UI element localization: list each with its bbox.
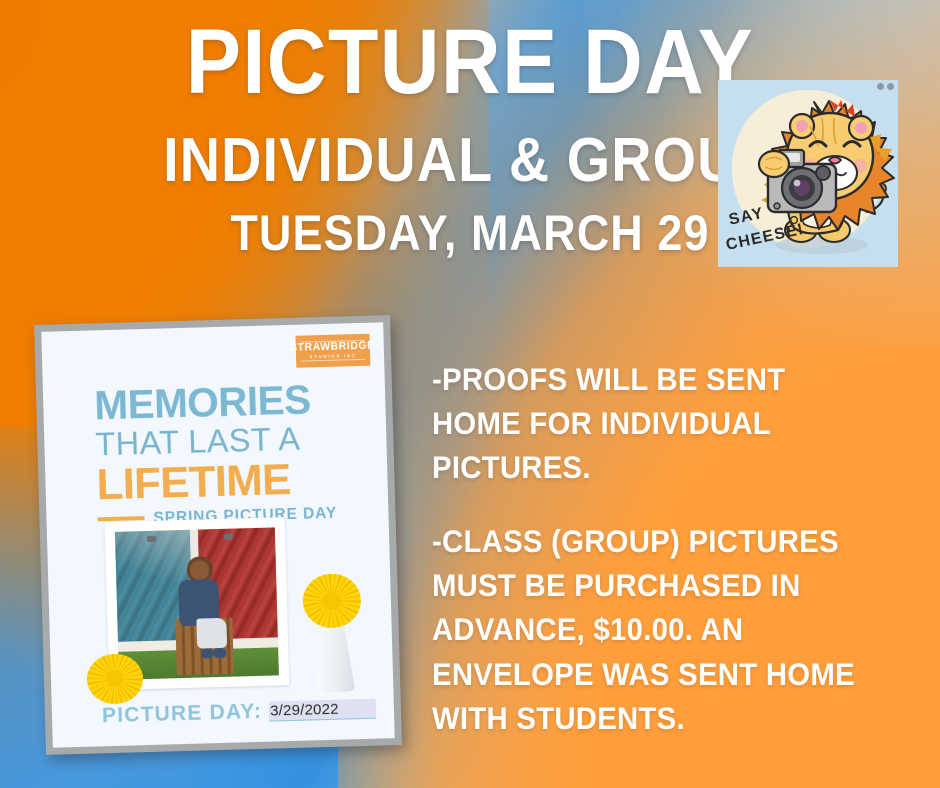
picture-day-flyer: PICTURE DAY INDIVIDUAL & GROUP TUESDAY, … xyxy=(0,0,940,788)
flyer-date-field: 3/29/2022 xyxy=(269,699,376,722)
flyer-footer-label: PICTURE DAY: xyxy=(102,701,263,726)
photo-knob-right xyxy=(224,534,233,540)
photo-knob-left xyxy=(147,536,156,542)
announcement-text-block: -PROOFS WILL BE SENT HOME FOR INDIVIDUAL… xyxy=(432,357,902,740)
flyer-heading-memories: MEMORIES xyxy=(94,379,360,426)
flyer-headline-block: MEMORIES THAT LAST A LIFETIME SPRING PIC… xyxy=(94,379,366,527)
yellow-flower-top xyxy=(302,573,361,629)
lion-illustration-icon: SAY CHEESE! xyxy=(718,80,898,267)
flyer-inner: STRAWBRIDGE STUDIOS INC MEMORIES THAT LA… xyxy=(41,322,394,747)
lion-with-camera-image: SAY CHEESE! xyxy=(718,80,898,267)
flyer-heading-lifetime: LIFETIME xyxy=(96,456,365,507)
announcement-paragraph-class-pictures: -CLASS (GROUP) PICTURES MUST BE PURCHASE… xyxy=(432,519,869,739)
flyer-photo-area xyxy=(77,515,378,701)
announcement-paragraph-proofs: -PROOFS WILL BE SENT HOME FOR INDIVIDUAL… xyxy=(432,357,869,489)
svg-text:SAY: SAY xyxy=(727,205,765,229)
student-photo xyxy=(115,527,279,679)
logo-name: STRAWBRIDGE xyxy=(290,341,375,354)
strawbridge-logo: STRAWBRIDGE STUDIOS INC xyxy=(295,334,370,368)
spring-picture-day-flyer-card: STRAWBRIDGE STUDIOS INC MEMORIES THAT LA… xyxy=(34,315,402,755)
flyer-paper: STRAWBRIDGE STUDIOS INC MEMORIES THAT LA… xyxy=(34,315,402,755)
flyer-footer-row: PICTURE DAY: 3/29/2022 xyxy=(102,698,376,727)
student-pants xyxy=(196,618,228,649)
photo-student xyxy=(170,555,237,657)
student-shoe-left xyxy=(201,648,213,658)
flyer-date-value: 3/29/2022 xyxy=(269,702,339,719)
student-face xyxy=(190,560,210,580)
yellow-flower-bottom xyxy=(86,653,143,705)
student-shoe-right xyxy=(214,648,226,658)
